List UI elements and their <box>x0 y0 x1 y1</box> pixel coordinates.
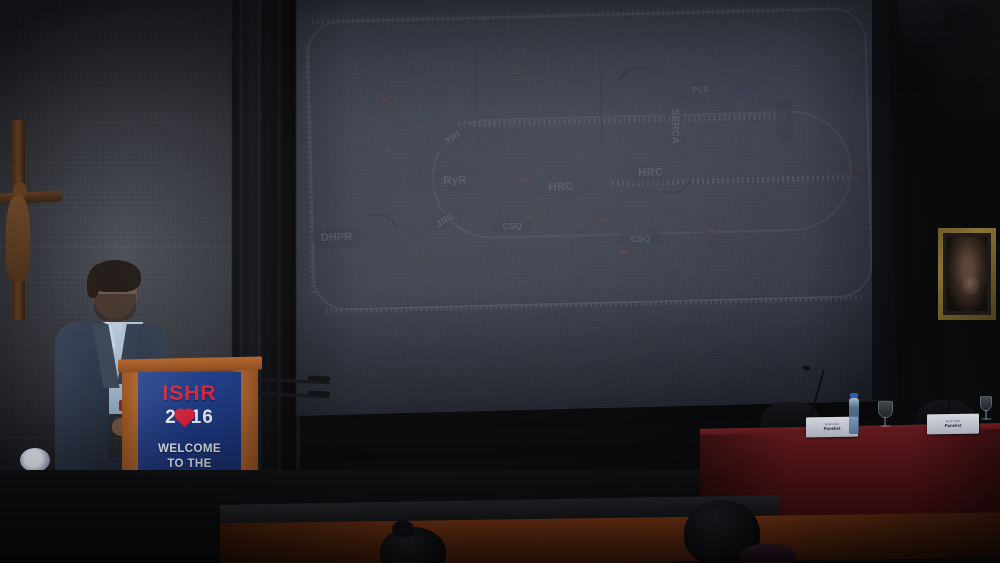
name-card-right-name: Panelist <box>945 423 962 428</box>
wine-glass-foot <box>880 425 891 427</box>
name-card-left-name: Panelist <box>824 426 841 431</box>
screen-dim-overlay <box>277 0 898 416</box>
ishr-logo-text: ISHR <box>162 382 216 406</box>
framed-portrait <box>938 228 996 320</box>
audience-shoulder-right <box>740 544 796 563</box>
speaker-hair-side <box>87 272 99 298</box>
water-bottle <box>849 398 859 434</box>
right-curtain <box>872 0 912 400</box>
microphone-head-upper <box>308 375 330 381</box>
presentation-photo-scene: DHPR TRI RyR JNC CSQ HRC HRC CSQ SERCA P… <box>0 0 1000 563</box>
water-bottle-cap <box>850 393 858 398</box>
speaker-beard <box>94 294 136 322</box>
projection-screen: DHPR TRI RyR JNC CSQ HRC HRC CSQ SERCA P… <box>277 0 898 416</box>
portrait-face <box>962 274 979 295</box>
crucifix-figure-body <box>6 196 30 282</box>
wine-glass-bowl <box>878 401 893 418</box>
wine-glass-foot-2 <box>981 418 992 420</box>
audience-hair-bun-left <box>392 520 414 538</box>
year-logo: 2 16 <box>165 407 214 429</box>
welcome-line-1: WELCOME <box>155 442 224 457</box>
wine-glass-bowl-2 <box>980 396 992 411</box>
lamp-bulb <box>20 448 50 472</box>
name-card-right: ISHR 2016 Panelist <box>927 414 979 435</box>
microphone-head-lower <box>308 390 330 396</box>
